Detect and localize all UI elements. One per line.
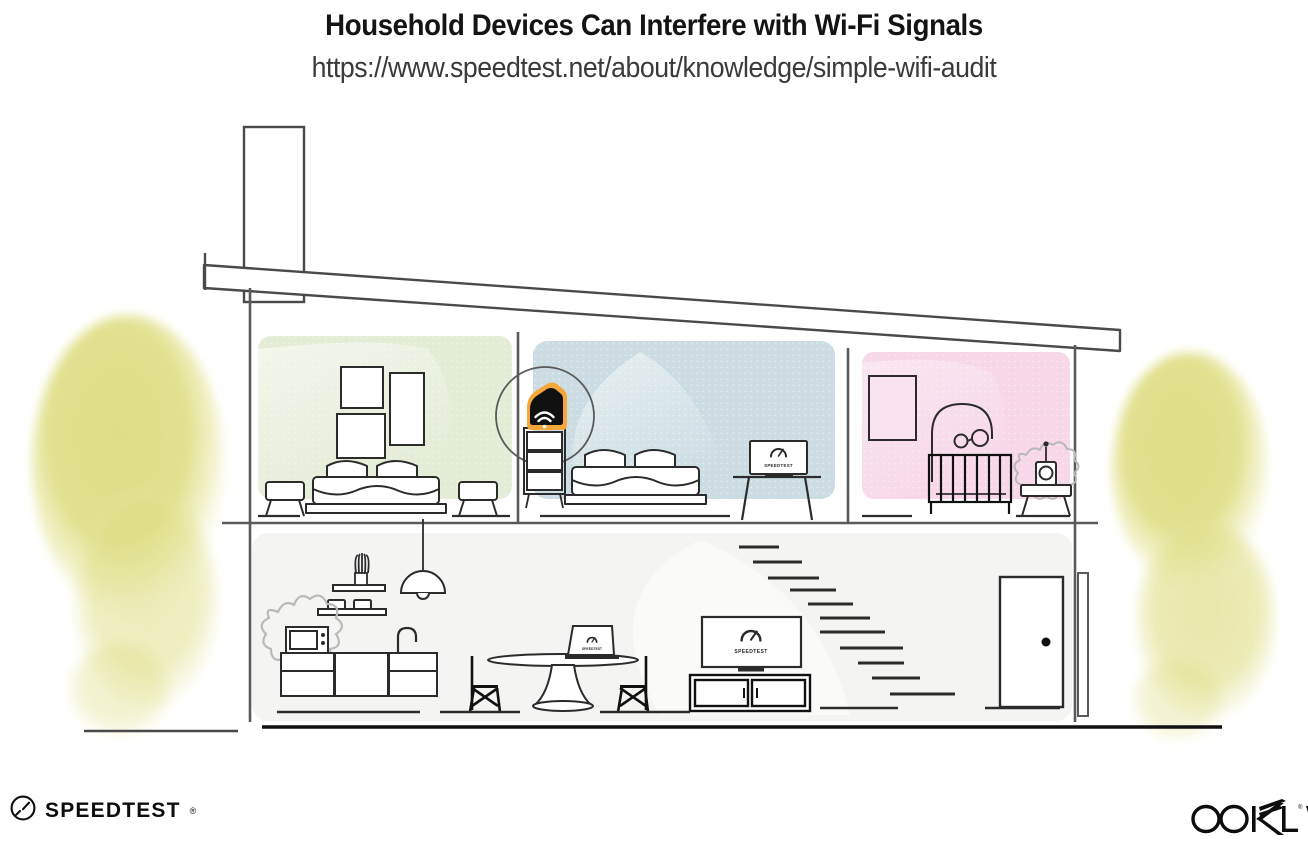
nightstand-left [266, 482, 304, 516]
door-knob-icon [1042, 638, 1051, 647]
footer: SPEEDTEST ® ® [0, 795, 1308, 855]
page-title: Household Devices Can Interfere with Wi-… [52, 0, 1255, 43]
media-console [690, 675, 810, 711]
house-cutaway-illustration: SPEEDTEST [0, 0, 1308, 861]
speedtest-gauge-icon [10, 795, 36, 826]
room-green-bedroom [258, 336, 512, 516]
room-pink-nursery [862, 352, 1079, 516]
header: Household Devices Can Interfere with Wi-… [0, 0, 1308, 85]
source-url[interactable]: https://www.speedtest.net/about/knowledg… [52, 43, 1255, 85]
svg-text:®: ® [1298, 804, 1303, 811]
microwave [286, 627, 328, 653]
speedtest-trademark-symbol: ® [190, 806, 197, 816]
laptop: SPEEDTEST [565, 626, 619, 659]
room-blue-bedroom: SPEEDTEST [533, 341, 835, 520]
nursery-wall-frame [869, 376, 916, 440]
nightstand-right [459, 482, 497, 516]
svg-text:SPEEDTEST: SPEEDTEST [582, 647, 603, 651]
svg-text:SPEEDTEST: SPEEDTEST [764, 463, 793, 468]
speedtest-logo[interactable]: SPEEDTEST ® [10, 795, 196, 826]
foliage-left [32, 315, 224, 738]
living-room-tv-group: SPEEDTEST [690, 617, 810, 711]
front-door [1000, 577, 1063, 707]
bedroom-tv: SPEEDTEST [750, 441, 807, 478]
speedtest-wordmark: SPEEDTEST [45, 799, 181, 823]
exterior-post [1078, 573, 1088, 716]
ookla-logo[interactable]: ® [1186, 795, 1308, 842]
foliage-right [1112, 352, 1276, 742]
living-room-tv [702, 617, 801, 667]
svg-text:SPEEDTEST: SPEEDTEST [734, 649, 767, 655]
